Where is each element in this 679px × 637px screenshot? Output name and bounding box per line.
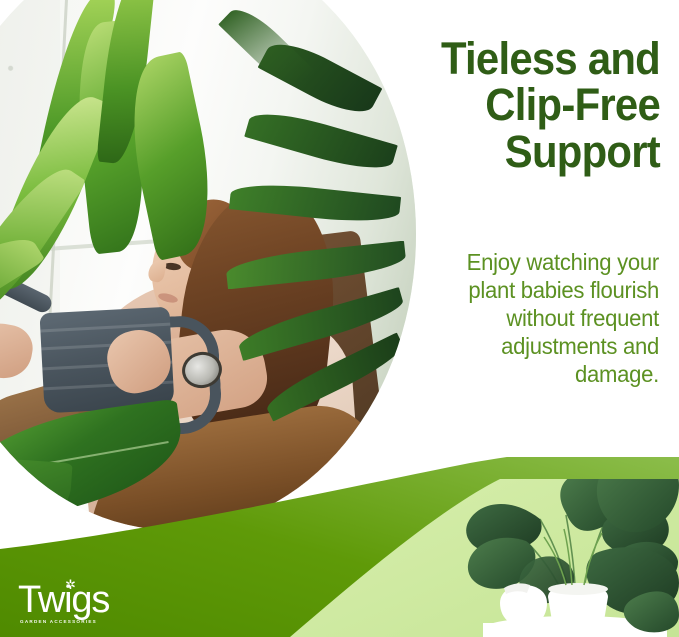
subcopy-line-3: without frequent [424,305,659,333]
brand-name: Twigs ✲ [18,581,109,619]
star-icon: ✲ [65,578,75,591]
headline-line-2: Clip-Free [381,82,660,128]
subcopy-line-4: adjustments and [424,333,659,361]
infographic-canvas: Tieless and Clip-Free Support Enjoy watc… [0,0,679,637]
headline-line-3: Support [381,129,660,175]
subcopy-line-1: Enjoy watching your [424,249,659,277]
white-pot-right [548,583,608,633]
subcopy-line-5: damage. [424,361,659,389]
lifestyle-photo-circle [0,0,416,530]
brand-name-text: Twigs [18,579,109,621]
subcopy: Enjoy watching your plant babies flouris… [424,249,659,389]
white-pot-left [500,583,547,627]
subcopy-line-2: plant babies flourish [424,277,659,305]
bottom-decoration: Twigs ✲ GARDEN ACCESSORIES [0,457,679,637]
brand-logo[interactable]: Twigs ✲ GARDEN ACCESSORIES [18,581,109,625]
brand-tagline: GARDEN ACCESSORIES [20,620,109,625]
headline-line-1: Tieless and [381,36,660,82]
headline: Tieless and Clip-Free Support [381,36,660,175]
photo-content [0,0,416,530]
